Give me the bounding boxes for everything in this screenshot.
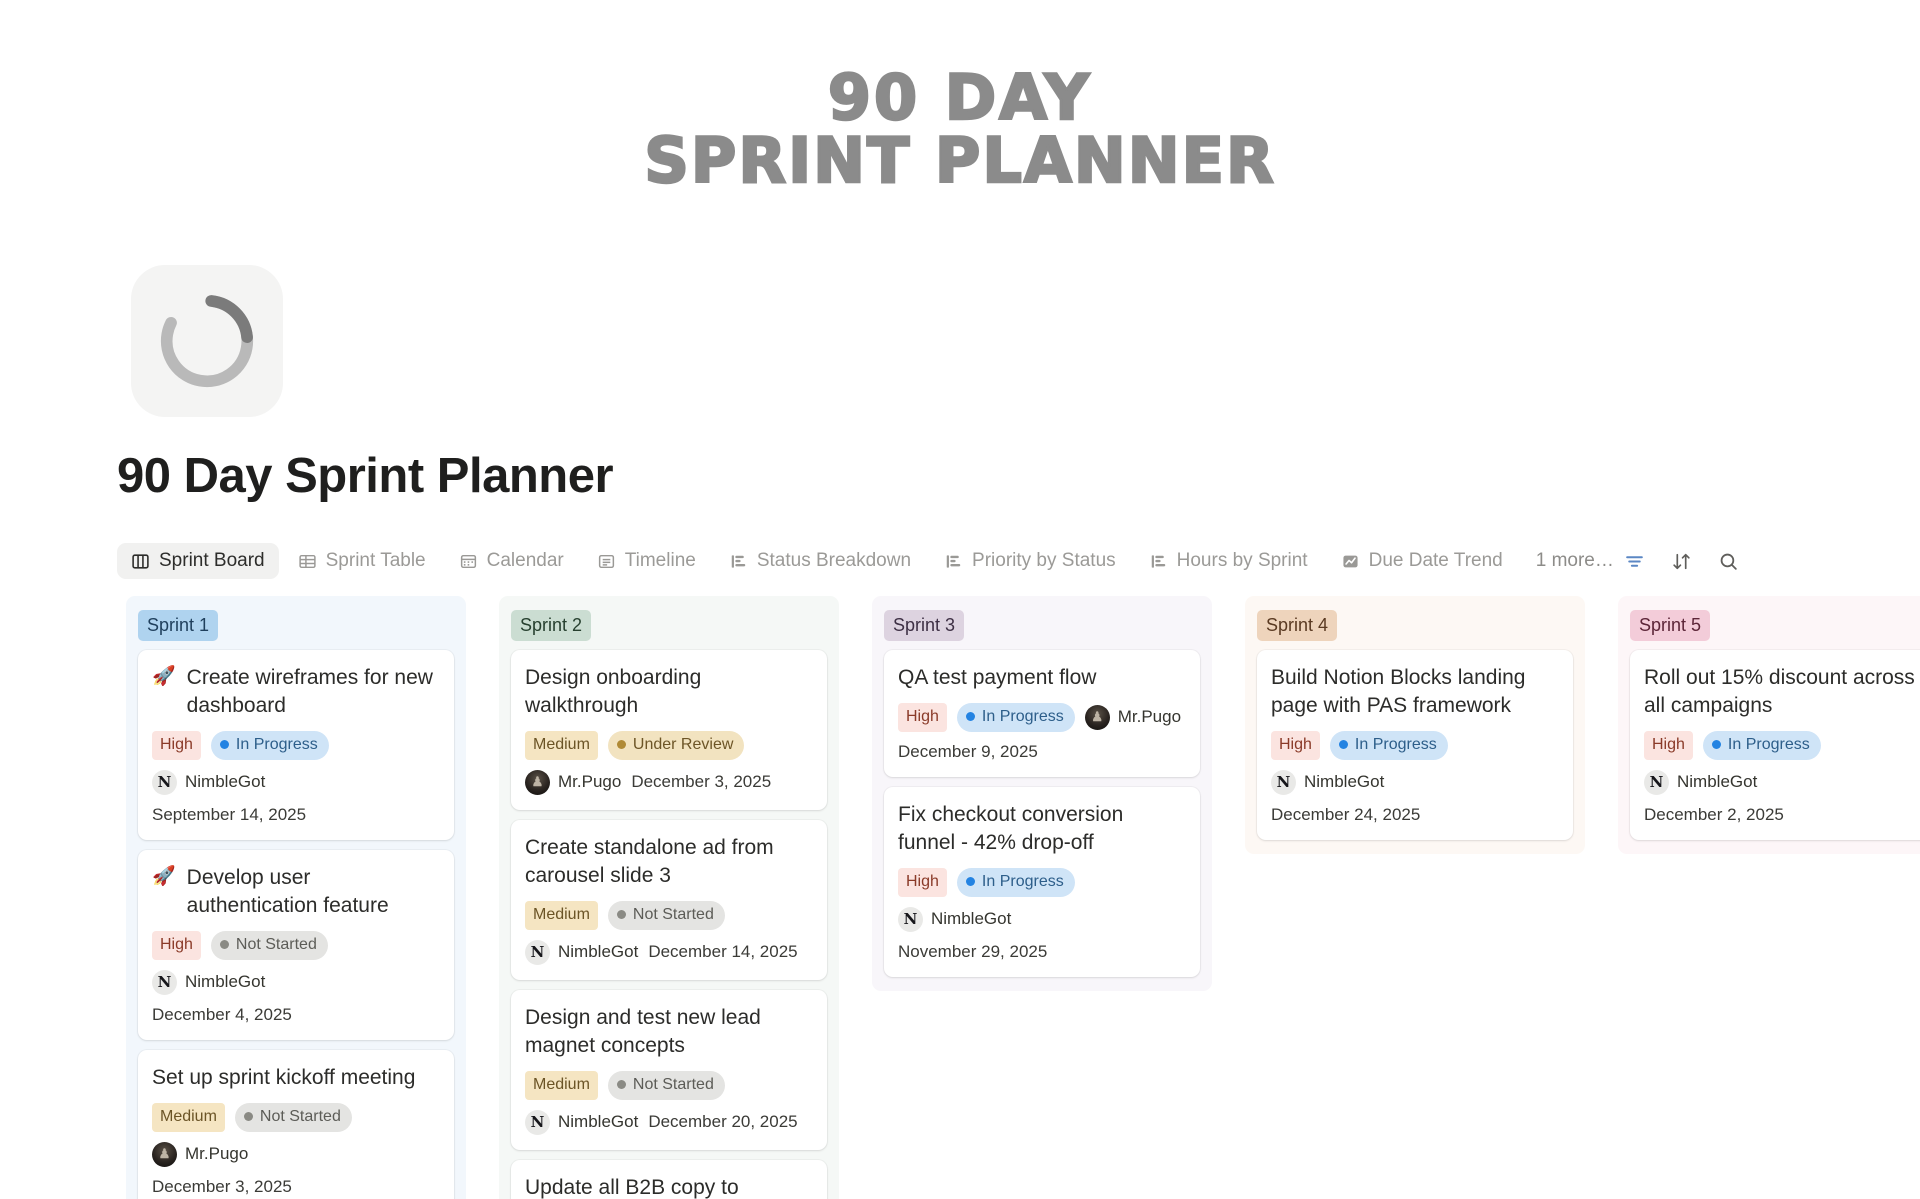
priority-badge[interactable]: Medium — [525, 901, 598, 930]
priority-badge[interactable]: High — [152, 931, 201, 960]
status-dot — [220, 940, 229, 949]
tab-status-breakdown[interactable]: Status Breakdown — [715, 543, 925, 579]
board-card[interactable]: Roll out 15% discount across all campaig… — [1630, 650, 1920, 840]
cover-title-line-1: 90 DAY — [644, 66, 1275, 129]
status-dot — [966, 877, 975, 886]
card-title-row: Fix checkout conversion funnel - 42% dro… — [898, 801, 1186, 857]
card-title-row: Create standalone ad from carousel slide… — [525, 834, 813, 890]
chart-bar-icon — [944, 552, 963, 571]
sort-icon[interactable] — [1671, 551, 1692, 572]
card-title: Fix checkout conversion funnel - 42% dro… — [898, 801, 1186, 857]
card-date-row: September 14, 2025 — [152, 805, 440, 825]
card-date-row: November 29, 2025 — [898, 942, 1186, 962]
priority-badge[interactable]: Medium — [152, 1103, 225, 1132]
status-badge[interactable]: Not Started — [608, 1071, 725, 1100]
more-views-button[interactable]: 1 more… — [1526, 550, 1624, 572]
chart-bar-icon — [729, 552, 748, 571]
chart-line-icon — [1341, 552, 1360, 571]
cover-banner: 90 DAY SPRINT PLANNER — [0, 0, 1920, 258]
status-label: In Progress — [1355, 737, 1437, 753]
board-column-sprint-5: Sprint 5Roll out 15% discount across all… — [1618, 596, 1920, 854]
card-date-row: December 24, 2025 — [1271, 805, 1559, 825]
avatar: N — [525, 940, 550, 965]
card-title-row: Roll out 15% discount across all campaig… — [1644, 664, 1920, 720]
card-title-row: Build Notion Blocks landing page with PA… — [1271, 664, 1559, 720]
card-title: Create standalone ad from carousel slide… — [525, 834, 813, 890]
tab-label: Due Date Trend — [1369, 550, 1503, 572]
due-date[interactable]: December 3, 2025 — [152, 1177, 292, 1197]
status-badge[interactable]: In Progress — [211, 731, 329, 760]
card-title: Design and test new lead magnet concepts — [525, 1004, 813, 1060]
assignee[interactable]: NNimbleGot — [525, 940, 638, 965]
column-title-chip[interactable]: Sprint 4 — [1257, 610, 1337, 641]
column-title-chip[interactable]: Sprint 2 — [511, 610, 591, 641]
board-card[interactable]: Fix checkout conversion funnel - 42% dro… — [884, 787, 1200, 977]
card-date-row: December 3, 2025 — [152, 1177, 440, 1197]
avatar: N — [152, 970, 177, 995]
board-card[interactable]: QA test payment flowHighIn Progress♟Mr.P… — [884, 650, 1200, 777]
status-badge[interactable]: Not Started — [235, 1103, 352, 1132]
card-date-row: December 2, 2025 — [1644, 805, 1920, 825]
rocket-icon: 🚀 — [152, 664, 176, 689]
priority-badge[interactable]: High — [1644, 731, 1693, 760]
column-cards: Design onboarding walkthroughMediumUnder… — [511, 650, 827, 1199]
card-title: Create wireframes for new dashboard — [187, 664, 440, 720]
search-icon[interactable] — [1718, 551, 1739, 572]
card-person-row: ♟Mr.PugoDecember 3, 2025 — [525, 770, 813, 795]
board-column-sprint-3: Sprint 3QA test payment flowHighIn Progr… — [872, 596, 1212, 991]
card-meta-row: HighNot StartedNNimbleGot — [152, 931, 440, 995]
assignee[interactable]: ♟Mr.Pugo — [152, 1142, 248, 1167]
column-cards: Build Notion Blocks landing page with PA… — [1257, 650, 1573, 840]
avatar: N — [1644, 770, 1669, 795]
board-card[interactable]: 🚀Create wireframes for new dashboardHigh… — [138, 650, 454, 840]
assignee[interactable]: NNimbleGot — [1271, 770, 1384, 795]
board-column-sprint-2: Sprint 2Design onboarding walkthroughMed… — [499, 596, 839, 1199]
status-badge[interactable]: Not Started — [608, 901, 725, 930]
avatar: N — [152, 770, 177, 795]
due-date[interactable]: December 14, 2025 — [648, 942, 797, 962]
board-card[interactable]: Design and test new lead magnet concepts… — [511, 990, 827, 1150]
due-date[interactable]: September 14, 2025 — [152, 805, 306, 825]
card-title-row: Design onboarding walkthrough — [525, 664, 813, 720]
assignee-name: NimbleGot — [558, 1112, 638, 1132]
board-card[interactable]: Set up sprint kickoff meetingMediumNot S… — [138, 1050, 454, 1199]
tab-sprint-table[interactable]: Sprint Table — [284, 543, 440, 579]
tab-label: Priority by Status — [972, 550, 1116, 572]
due-date[interactable]: December 2, 2025 — [1644, 805, 1784, 825]
card-title-row: Update all B2B copy to problem-focused m… — [525, 1174, 813, 1199]
tab-calendar[interactable]: Calendar — [445, 543, 578, 579]
avatar: N — [1271, 770, 1296, 795]
progress-ring-icon — [154, 288, 260, 394]
card-date-row: December 4, 2025 — [152, 1005, 440, 1025]
priority-badge[interactable]: High — [898, 868, 947, 897]
due-date[interactable]: December 20, 2025 — [648, 1112, 797, 1132]
status-dot — [966, 712, 975, 721]
status-dot — [617, 910, 626, 919]
avatar: ♟ — [152, 1142, 177, 1167]
view-tab-bar: Sprint BoardSprint TableCalendarTimeline… — [117, 539, 1802, 583]
status-label: In Progress — [1728, 737, 1810, 753]
chart-bar-icon — [1149, 552, 1168, 571]
assignee[interactable]: NNimbleGot — [898, 907, 1011, 932]
board-column-sprint-4: Sprint 4Build Notion Blocks landing page… — [1245, 596, 1585, 854]
status-badge[interactable]: In Progress — [1703, 731, 1821, 760]
status-dot — [244, 1112, 253, 1121]
board-card[interactable]: Update all B2B copy to problem-focused m… — [511, 1160, 827, 1199]
due-date[interactable]: December 9, 2025 — [898, 742, 1038, 762]
status-dot — [617, 740, 626, 749]
filter-icon[interactable] — [1624, 551, 1645, 572]
priority-badge[interactable]: Medium — [525, 1071, 598, 1100]
tab-label: Hours by Sprint — [1177, 550, 1308, 572]
assignee-name: Mr.Pugo — [558, 772, 621, 792]
due-date[interactable]: November 29, 2025 — [898, 942, 1047, 962]
assignee-name: NimbleGot — [1677, 772, 1757, 792]
due-date[interactable]: December 3, 2025 — [631, 772, 771, 792]
tab-label: Sprint Table — [326, 550, 426, 572]
tab-label: Sprint Board — [159, 550, 265, 572]
assignee-name: NimbleGot — [558, 942, 638, 962]
due-date[interactable]: December 4, 2025 — [152, 1005, 292, 1025]
assignee[interactable]: NNimbleGot — [152, 770, 265, 795]
board-column-sprint-1: Sprint 1🚀Create wireframes for new dashb… — [126, 596, 466, 1199]
priority-badge[interactable]: High — [898, 703, 947, 732]
assignee[interactable]: NNimbleGot — [1644, 770, 1757, 795]
card-person-row: NNimbleGotDecember 20, 2025 — [525, 1110, 813, 1135]
tab-timeline[interactable]: Timeline — [583, 543, 710, 579]
column-header: Sprint 5 — [1630, 610, 1920, 641]
assignee[interactable]: ♟Mr.Pugo — [1085, 705, 1181, 730]
assignee[interactable]: NNimbleGot — [525, 1110, 638, 1135]
status-label: Not Started — [260, 1109, 341, 1125]
card-meta-row: HighIn ProgressNNimbleGot — [898, 868, 1186, 932]
tab-due-date-trend[interactable]: Due Date Trend — [1327, 543, 1517, 579]
status-badge[interactable]: In Progress — [957, 868, 1075, 897]
status-label: Not Started — [633, 1077, 714, 1093]
tab-hours-by-sprint[interactable]: Hours by Sprint — [1135, 543, 1322, 579]
avatar: N — [525, 1110, 550, 1135]
card-title: Set up sprint kickoff meeting — [152, 1064, 415, 1092]
assignee-name: Mr.Pugo — [1118, 707, 1181, 727]
tab-priority-by-status[interactable]: Priority by Status — [930, 543, 1130, 579]
tab-label: Timeline — [625, 550, 696, 572]
assignee-name: NimbleGot — [931, 909, 1011, 929]
status-badge[interactable]: In Progress — [957, 703, 1075, 732]
column-title-chip[interactable]: Sprint 3 — [884, 610, 964, 641]
board-card[interactable]: Create standalone ad from carousel slide… — [511, 820, 827, 980]
priority-badge[interactable]: Medium — [525, 731, 598, 760]
cover-title: 90 DAY SPRINT PLANNER — [644, 66, 1275, 192]
card-title: QA test payment flow — [898, 664, 1096, 692]
status-dot — [617, 1080, 626, 1089]
status-badge[interactable]: In Progress — [1330, 731, 1448, 760]
card-title-row: 🚀Create wireframes for new dashboard — [152, 664, 440, 720]
card-title: Roll out 15% discount across all campaig… — [1644, 664, 1920, 720]
card-title: Design onboarding walkthrough — [525, 664, 813, 720]
page-icon[interactable] — [131, 265, 283, 417]
due-date[interactable]: December 24, 2025 — [1271, 805, 1420, 825]
card-title-row: 🚀Develop user authentication feature — [152, 864, 440, 920]
column-header: Sprint 3 — [884, 610, 1200, 641]
avatar: ♟ — [1085, 705, 1110, 730]
assignee-name: Mr.Pugo — [185, 1144, 248, 1164]
tab-label: Calendar — [487, 550, 564, 572]
status-label: In Progress — [236, 737, 318, 753]
card-date-row: December 9, 2025 — [898, 742, 1186, 762]
card-meta-row: HighIn ProgressNNimbleGot — [1644, 731, 1920, 795]
column-header: Sprint 1 — [138, 610, 454, 641]
board-icon — [131, 552, 150, 571]
tab-sprint-board[interactable]: Sprint Board — [117, 543, 279, 579]
card-title: Update all B2B copy to problem-focused m… — [525, 1174, 813, 1199]
sprint-board: Sprint 1🚀Create wireframes for new dashb… — [126, 596, 1920, 1199]
avatar: N — [898, 907, 923, 932]
cover-title-line-2: SPRINT PLANNER — [644, 129, 1275, 192]
calendar-icon — [459, 552, 478, 571]
table-icon — [298, 552, 317, 571]
assignee-name: NimbleGot — [185, 772, 265, 792]
card-title-row: QA test payment flow — [898, 664, 1186, 692]
status-label: In Progress — [982, 709, 1064, 725]
card-meta-row: MediumNot Started♟Mr.Pugo — [152, 1103, 440, 1167]
priority-badge[interactable]: High — [1271, 731, 1320, 760]
card-title-row: Set up sprint kickoff meeting — [152, 1064, 440, 1092]
column-cards: 🚀Create wireframes for new dashboardHigh… — [138, 650, 454, 1199]
board-card[interactable]: 🚀Develop user authentication featureHigh… — [138, 850, 454, 1040]
card-meta-row: MediumUnder Review — [525, 731, 813, 760]
card-person-row: NNimbleGotDecember 14, 2025 — [525, 940, 813, 965]
column-cards: Roll out 15% discount across all campaig… — [1630, 650, 1920, 840]
column-title-chip[interactable]: Sprint 1 — [138, 610, 218, 641]
priority-badge[interactable]: High — [152, 731, 201, 760]
status-dot — [1339, 740, 1348, 749]
tab-label: Status Breakdown — [757, 550, 911, 572]
card-meta-row: HighIn ProgressNNimbleGot — [1271, 731, 1559, 795]
card-title: Develop user authentication feature — [187, 864, 440, 920]
card-meta-row: HighIn ProgressNNimbleGot — [152, 731, 440, 795]
column-title-chip[interactable]: Sprint 5 — [1630, 610, 1710, 641]
rocket-icon: 🚀 — [152, 864, 176, 889]
assignee[interactable]: ♟Mr.Pugo — [525, 770, 621, 795]
status-label: Not Started — [633, 907, 714, 923]
card-title: Build Notion Blocks landing page with PA… — [1271, 664, 1559, 720]
assignee-name: NimbleGot — [1304, 772, 1384, 792]
status-dot — [220, 740, 229, 749]
board-card[interactable]: Design onboarding walkthroughMediumUnder… — [511, 650, 827, 810]
card-title-row: Design and test new lead magnet concepts — [525, 1004, 813, 1060]
assignee-name: NimbleGot — [185, 972, 265, 992]
avatar: ♟ — [525, 770, 550, 795]
notion-page: 90 DAY SPRINT PLANNER 90 Day Sprint Plan… — [0, 0, 1920, 1199]
card-meta-row: MediumNot Started — [525, 901, 813, 930]
status-badge[interactable]: Under Review — [608, 731, 744, 760]
assignee[interactable]: NNimbleGot — [152, 970, 265, 995]
view-tabs: Sprint BoardSprint TableCalendarTimeline… — [117, 543, 1517, 579]
status-dot — [1712, 740, 1721, 749]
card-meta-row: HighIn Progress♟Mr.Pugo — [898, 703, 1186, 732]
status-label: In Progress — [982, 874, 1064, 890]
status-badge[interactable]: Not Started — [211, 931, 328, 960]
column-header: Sprint 4 — [1257, 610, 1573, 641]
status-label: Under Review — [633, 737, 733, 753]
status-label: Not Started — [236, 937, 317, 953]
page-title: 90 Day Sprint Planner — [117, 448, 613, 504]
column-header: Sprint 2 — [511, 610, 827, 641]
card-meta-row: MediumNot Started — [525, 1071, 813, 1100]
board-card[interactable]: Build Notion Blocks landing page with PA… — [1257, 650, 1573, 840]
column-cards: QA test payment flowHighIn Progress♟Mr.P… — [884, 650, 1200, 977]
timeline-icon — [597, 552, 616, 571]
view-actions — [1624, 551, 1827, 572]
